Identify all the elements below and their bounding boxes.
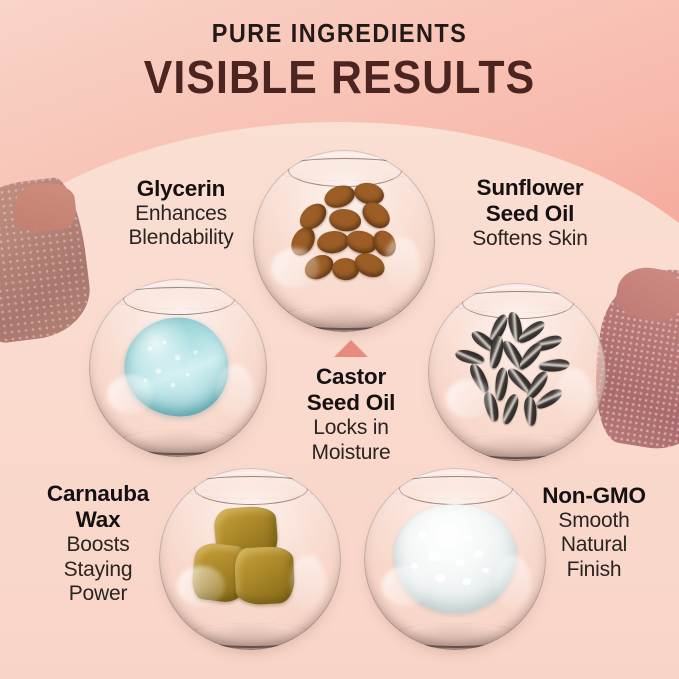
label-castor-seed-oil: Castor Seed Oil Locks in Moisture: [276, 364, 426, 465]
ingredient-name-line-2: Wax: [10, 507, 186, 533]
bowl-sunflower-seeds: [428, 283, 606, 461]
ingredients-infographic: PURE INGREDIENTS VISIBLE RESULTS: [0, 0, 679, 679]
ingredient-desc-line-1: Boosts: [10, 533, 186, 557]
ingredient-desc-line-1: Softens Skin: [430, 227, 630, 251]
ingredient-name-line-2: Seed Oil: [276, 390, 426, 416]
bowl-highlight: [446, 379, 492, 418]
label-glycerin: Glycerin Enhances Blendability: [78, 176, 284, 251]
ingredient-desc-line-3: Finish: [514, 558, 674, 582]
triangle-pointer-icon: [334, 340, 368, 357]
ingredient-desc-line-2: Moisture: [276, 441, 426, 465]
header-kicker: PURE INGREDIENTS: [27, 22, 652, 48]
header: PURE INGREDIENTS VISIBLE RESULTS: [0, 22, 679, 100]
ingredient-desc-line-1: Locks in: [276, 416, 426, 440]
ingredient-name: Glycerin: [78, 176, 284, 202]
bowl-highlight-right: [217, 364, 253, 417]
ingredient-desc-line-1: Smooth: [514, 509, 674, 533]
ingredient-name-line-1: Sunflower: [430, 175, 630, 201]
ingredient-name: Non-GMO: [514, 483, 674, 509]
bowl-highlight-right: [384, 237, 420, 292]
bowl-highlight: [382, 566, 429, 606]
ingredient-desc-line-1: Enhances: [78, 202, 284, 226]
ingredient-name-line-1: Carnauba: [10, 481, 186, 507]
label-carnauba-wax: Carnauba Wax Boosts Staying Power: [10, 481, 186, 606]
ingredient-name-line-1: Castor: [276, 364, 426, 390]
ingredient-name-line-2: Seed Oil: [430, 201, 630, 227]
bowl-base: [117, 430, 240, 455]
bowl-highlight-right: [290, 555, 326, 610]
bowl-base: [282, 305, 408, 331]
bowl-highlight-right: [556, 368, 592, 421]
ingredient-desc-line-2: Natural: [514, 533, 674, 557]
bowl-base: [393, 623, 519, 649]
ingredient-desc-line-3: Power: [10, 582, 186, 606]
ingredient-desc-line-2: Staying: [10, 558, 186, 582]
header-headline: VISIBLE RESULTS: [24, 54, 655, 100]
label-sunflower-seed-oil: Sunflower Seed Oil Softens Skin: [430, 175, 630, 252]
bowl-highlight: [271, 248, 318, 288]
bowl-carnauba-wax: [159, 468, 341, 650]
bowl-highlight: [107, 375, 153, 414]
bowl-base: [456, 434, 579, 459]
label-non-gmo: Non-GMO Smooth Natural Finish: [514, 483, 674, 582]
bowl-base: [188, 623, 314, 649]
ingredient-desc-line-2: Blendability: [78, 226, 284, 250]
bowl-glycerin: [89, 279, 267, 457]
